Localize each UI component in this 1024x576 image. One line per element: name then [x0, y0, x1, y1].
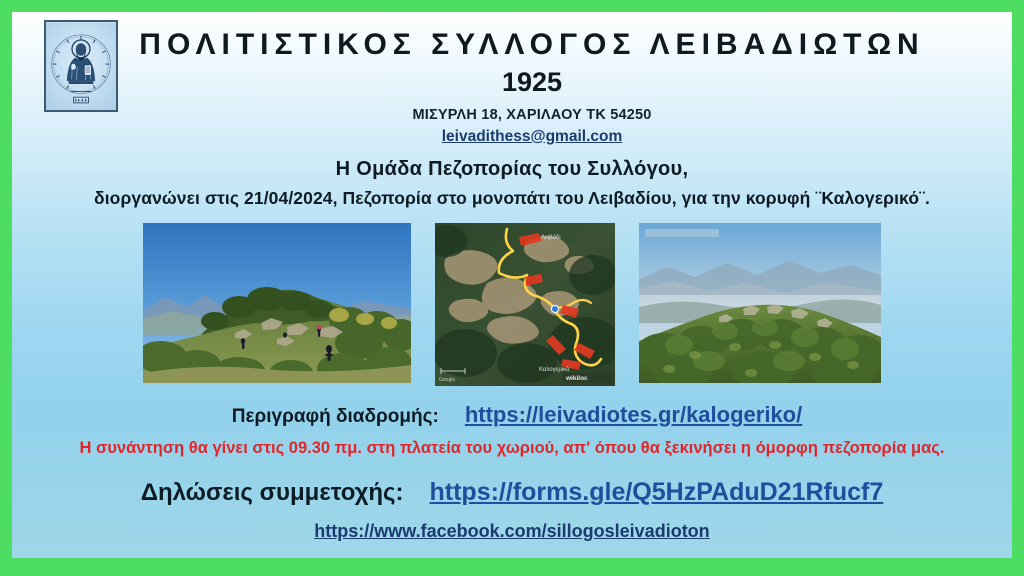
- svg-text:Καλογερικό: Καλογερικό: [539, 366, 570, 373]
- organization-email-link[interactable]: leivadithess@gmail.com: [12, 123, 1012, 146]
- route-description-label: Περιγραφή διαδρομής:: [232, 406, 439, 428]
- announcement-line-1: Η Ομάδα Πεζοπορίας του Συλλόγου,: [12, 158, 1012, 181]
- photo-forested-ridge: [639, 223, 881, 383]
- svg-text:Λειβάδι: Λειβάδι: [541, 234, 561, 241]
- photo-satellite-route-map-artwork: Λειβάδι Καλογερικό wikiloc Google: [435, 223, 615, 386]
- meeting-note: Η συνάντηση θα γίνει στις 09.30 πμ. στη …: [12, 439, 1012, 458]
- facebook-row: https://www.facebook.com/sillogosleivadi…: [12, 521, 1012, 542]
- announcement-line-2: διοργανώνει στις 21/04/2024, Πεζοπορία σ…: [12, 188, 1012, 209]
- participation-form-link[interactable]: https://forms.gle/Q5HzPAduD21Rfucf7: [430, 478, 884, 507]
- organization-title: ΠΟΛΙΤΙΣΤΙΚΟΣ ΣΥΛΛΟΓΟΣ ΛΕΙΒΑΔΙΩΤΩΝ: [12, 12, 1012, 60]
- poster-root: ΠΟΛΙΤΙΣΤΙΚΟΣ ΣΥΛΛΟΓΟΣ ΛΕΙΒΑΔΙΩΤΩΝ 1925 Μ…: [0, 0, 1024, 576]
- links-section: Περιγραφή διαδρομής: https://leivadiotes…: [12, 402, 1012, 542]
- svg-text:Google: Google: [439, 377, 455, 383]
- poster-canvas: ΠΟΛΙΤΙΣΤΙΚΟΣ ΣΥΛΛΟΓΟΣ ΛΕΙΒΑΔΙΩΤΩΝ 1925 Μ…: [12, 12, 1012, 558]
- association-emblem-logo: [44, 20, 118, 112]
- announcement-block: Η Ομάδα Πεζοπορίας του Συλλόγου, διοργαν…: [12, 158, 1012, 209]
- photo-strip: Λειβάδι Καλογερικό wikiloc Google: [12, 223, 1012, 386]
- route-description-row: Περιγραφή διαδρομής: https://leivadiotes…: [12, 402, 1012, 428]
- photo-summit-hikers: [143, 223, 411, 383]
- svg-text:wikiloc: wikiloc: [565, 375, 588, 382]
- emblem-artwork: [46, 22, 116, 110]
- participation-form-row: Δηλώσεις συμμετοχής: https://forms.gle/Q…: [12, 478, 1012, 507]
- photo-summit-hikers-artwork: [143, 223, 411, 383]
- participation-form-label: Δηλώσεις συμμετοχής:: [141, 479, 404, 507]
- organization-address: ΜΙΣΥΡΛΗ 18, ΧΑΡΙΛΑΟΥ ΤΚ 54250: [12, 100, 1012, 123]
- route-description-link[interactable]: https://leivadiotes.gr/kalogeriko/: [465, 402, 802, 428]
- photo-forested-ridge-artwork: [639, 223, 881, 383]
- organization-founding-year: 1925: [12, 60, 1012, 100]
- photo-satellite-route-map: Λειβάδι Καλογερικό wikiloc Google: [435, 223, 615, 386]
- poster-header: ΠΟΛΙΤΙΣΤΙΚΟΣ ΣΥΛΛΟΓΟΣ ΛΕΙΒΑΔΙΩΤΩΝ 1925 Μ…: [12, 12, 1012, 144]
- facebook-page-link[interactable]: https://www.facebook.com/sillogosleivadi…: [314, 521, 709, 541]
